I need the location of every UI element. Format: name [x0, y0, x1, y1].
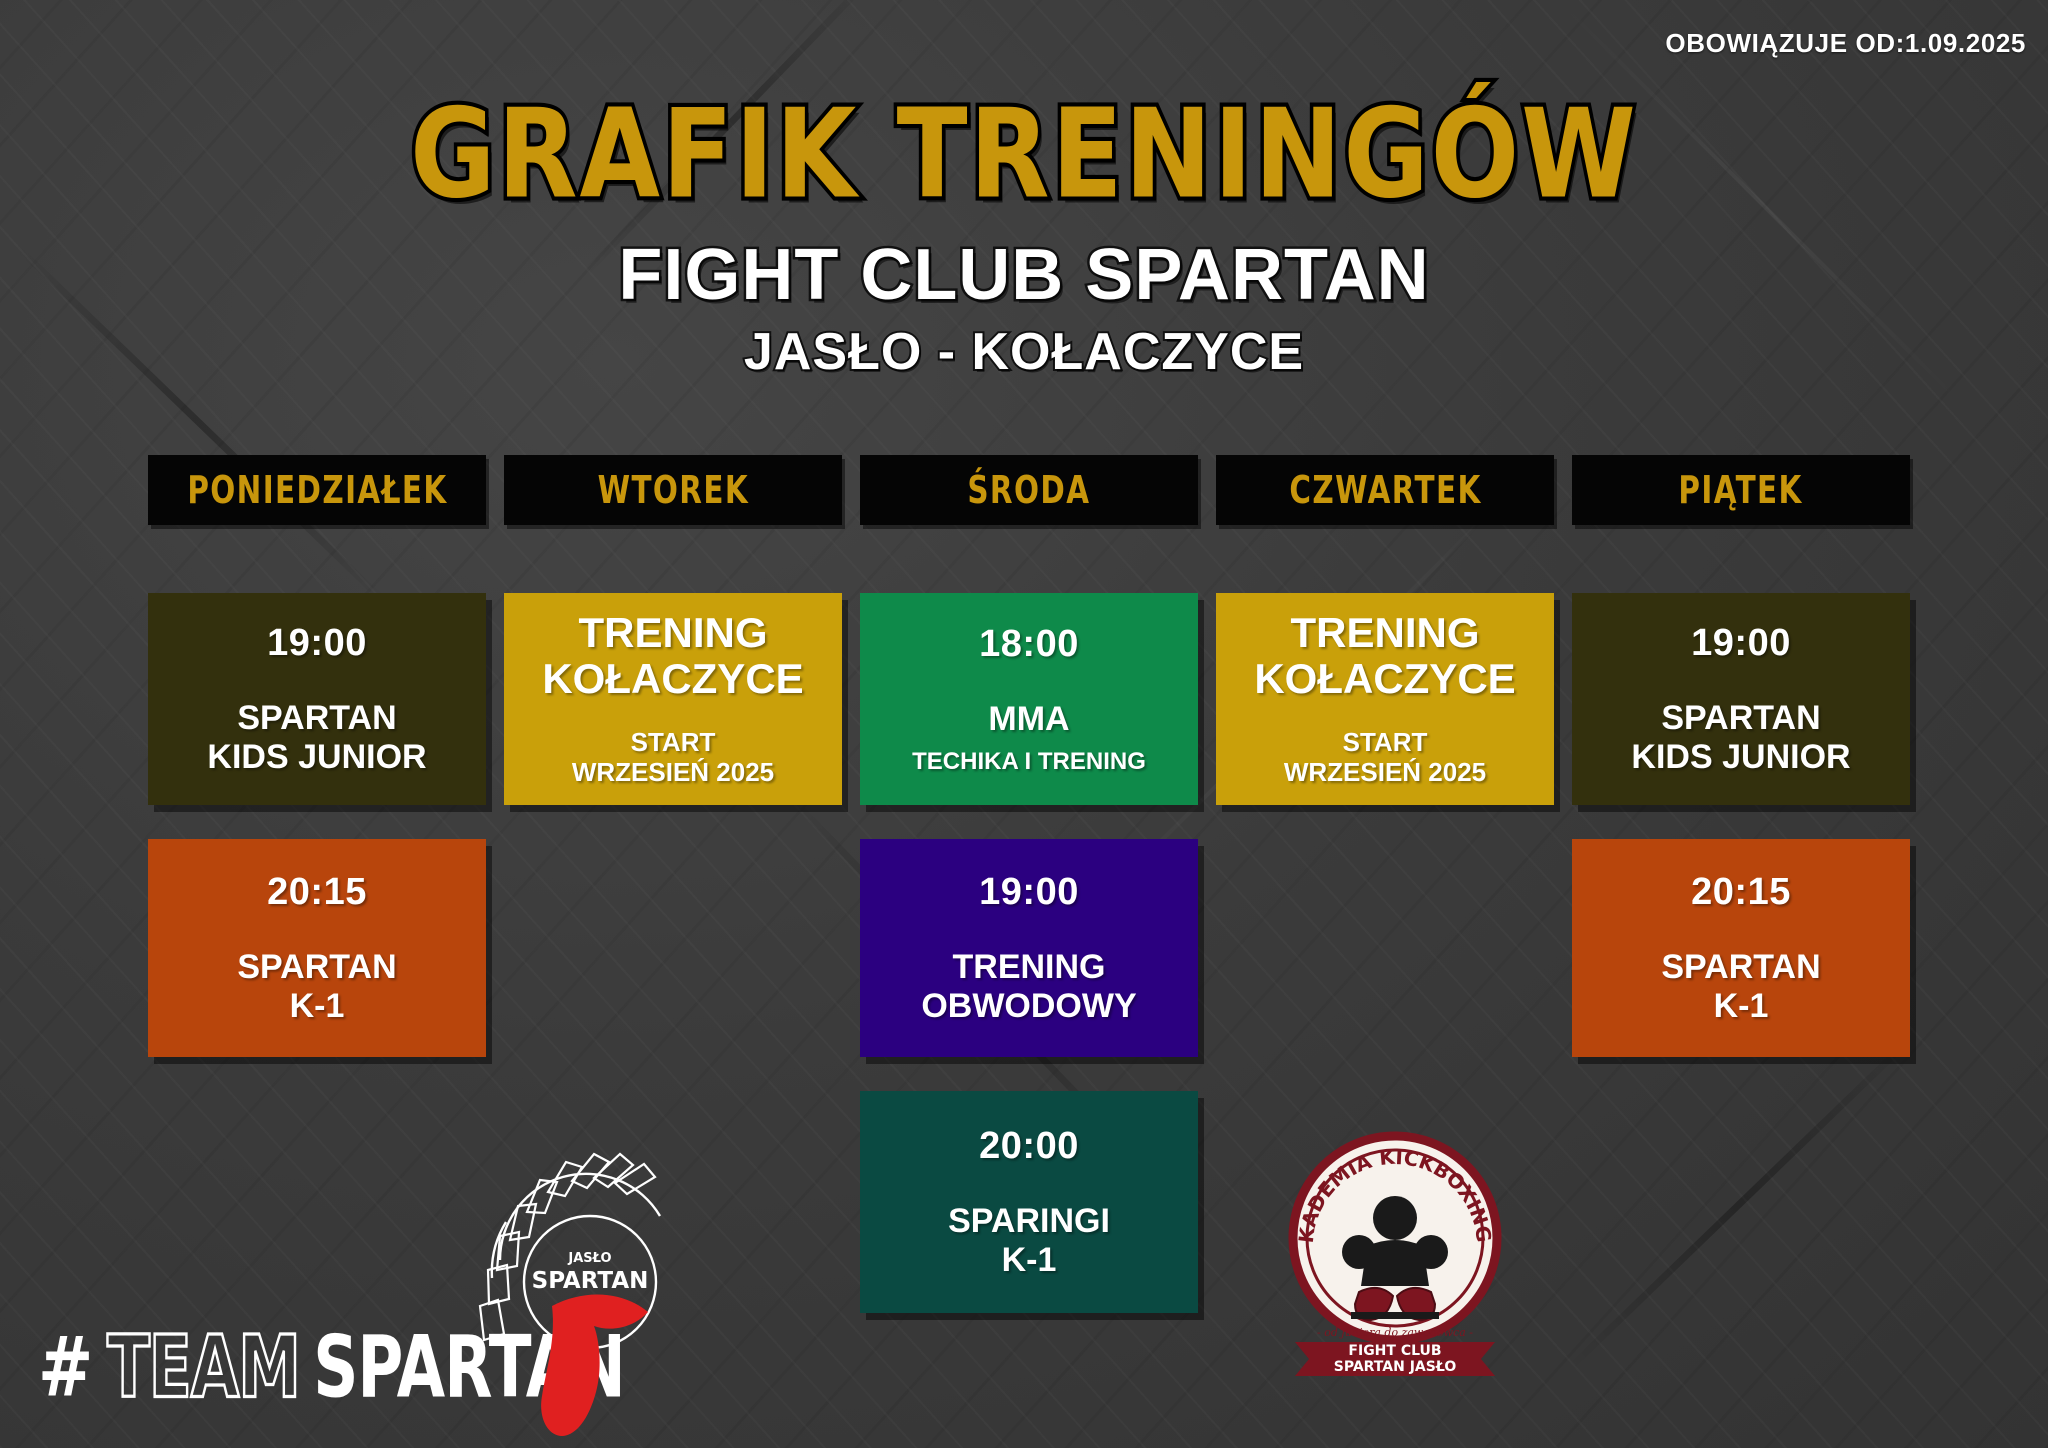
- card-time: 20:00: [979, 1125, 1079, 1168]
- card-title: SPARTANK-1: [1661, 948, 1820, 1024]
- valid-from-label: OBOWIĄZUJE OD:1.09.2025: [1665, 28, 2026, 59]
- card-title: TRENINGKOŁACZYCE: [542, 610, 803, 702]
- club-name: FIGHT CLUB SPARTAN: [0, 234, 2048, 316]
- day-header-label: PONIEDZIAŁEK: [187, 467, 447, 513]
- day-header-label: PIĄTEK: [1679, 467, 1803, 513]
- card-title: TRENINGOBWODOWY: [921, 948, 1136, 1024]
- schedule-grid: PONIEDZIAŁEK19:00SPARTANKIDS JUNIOR20:15…: [148, 455, 1910, 1313]
- club-locations: JASŁO - KOŁACZYCE: [0, 322, 2048, 382]
- day-column: PIĄTEK19:00SPARTANKIDS JUNIOR20:15SPARTA…: [1572, 455, 1910, 1313]
- akademia-kickboxingu-badge: AKADEMIA KICKBOXINGU - od juniora do zaw…: [1255, 1106, 1535, 1386]
- day-header-label: CZWARTEK: [1289, 467, 1481, 513]
- schedule-card[interactable]: TRENINGKOŁACZYCESTARTWRZESIEŃ 2025: [1216, 593, 1554, 805]
- schedule-card[interactable]: 18:00MMATECHIKA I TRENING: [860, 593, 1198, 805]
- card-time: 20:15: [267, 871, 367, 914]
- day-header-4[interactable]: CZWARTEK: [1216, 455, 1554, 525]
- card-title: SPARTANK-1: [237, 948, 396, 1024]
- day-cards: 18:00MMATECHIKA I TRENING19:00TRENINGOBW…: [860, 593, 1198, 1313]
- day-header-label: ŚRODA: [967, 467, 1090, 513]
- badge-ribbon-line2: SPARTAN JASŁO: [1334, 1359, 1457, 1375]
- badge-ribbon-line1: FIGHT CLUB: [1348, 1343, 1441, 1359]
- day-header-5[interactable]: PIĄTEK: [1572, 455, 1910, 525]
- poster-titles: GRAFIK TRENINGÓW FIGHT CLUB SPARTAN JASŁ…: [0, 100, 2048, 382]
- page-title: GRAFIK TRENINGÓW: [0, 90, 2048, 218]
- card-time: 18:00: [979, 623, 1079, 666]
- schedule-card[interactable]: 19:00SPARTANKIDS JUNIOR: [148, 593, 486, 805]
- day-column: PONIEDZIAŁEK19:00SPARTANKIDS JUNIOR20:15…: [148, 455, 486, 1313]
- card-time: 19:00: [1691, 622, 1791, 665]
- day-cards: TRENINGKOŁACZYCESTARTWRZESIEŃ 2025: [504, 593, 842, 805]
- card-title: SPARINGIK-1: [948, 1202, 1110, 1278]
- schedule-card[interactable]: 19:00SPARTANKIDS JUNIOR: [1572, 593, 1910, 805]
- card-title: TRENINGKOŁACZYCE: [1254, 610, 1515, 702]
- schedule-card[interactable]: 20:15SPARTANK-1: [1572, 839, 1910, 1057]
- day-column: ŚRODA18:00MMATECHIKA I TRENING19:00TRENI…: [860, 455, 1198, 1313]
- card-time: 19:00: [979, 871, 1079, 914]
- helmet-red-plume: [541, 1295, 648, 1436]
- card-note: STARTWRZESIEŃ 2025: [572, 728, 774, 788]
- schedule-card[interactable]: TRENINGKOŁACZYCESTARTWRZESIEŃ 2025: [504, 593, 842, 805]
- day-cards: 19:00SPARTANKIDS JUNIOR20:15SPARTANK-1: [1572, 593, 1910, 1057]
- helmet-text-main: SPARTAN: [532, 1268, 649, 1294]
- card-title: SPARTANKIDS JUNIOR: [1631, 699, 1850, 775]
- schedule-card[interactable]: 19:00TRENINGOBWODOWY: [860, 839, 1198, 1057]
- day-header-2[interactable]: WTOREK: [504, 455, 842, 525]
- badge-bar: [1351, 1312, 1439, 1319]
- hash-icon: #: [38, 1319, 92, 1415]
- day-header-label: WTOREK: [597, 467, 748, 513]
- badge-motto: - od juniora do zawodowca -: [1317, 1326, 1473, 1339]
- card-time: 19:00: [267, 622, 367, 665]
- card-note: TECHIKA I TRENING: [912, 748, 1146, 776]
- schedule-card[interactable]: 20:00SPARINGIK-1: [860, 1091, 1198, 1313]
- card-time: 20:15: [1691, 871, 1791, 914]
- schedule-card[interactable]: 20:15SPARTANK-1: [148, 839, 486, 1057]
- hashtag-team-text: TEAM: [107, 1317, 300, 1417]
- day-header-1[interactable]: PONIEDZIAŁEK: [148, 455, 486, 525]
- day-cards: 19:00SPARTANKIDS JUNIOR20:15SPARTANK-1: [148, 593, 486, 1057]
- card-note: STARTWRZESIEŃ 2025: [1284, 728, 1486, 788]
- day-header-3[interactable]: ŚRODA: [860, 455, 1198, 525]
- helmet-text-top: JASŁO: [567, 1251, 611, 1266]
- card-title: MMA: [988, 700, 1069, 738]
- day-cards: TRENINGKOŁACZYCESTARTWRZESIEŃ 2025: [1216, 593, 1554, 805]
- card-title: SPARTANKIDS JUNIOR: [207, 699, 426, 775]
- spartan-helmet-logo: JASŁO SPARTAN: [440, 1110, 720, 1440]
